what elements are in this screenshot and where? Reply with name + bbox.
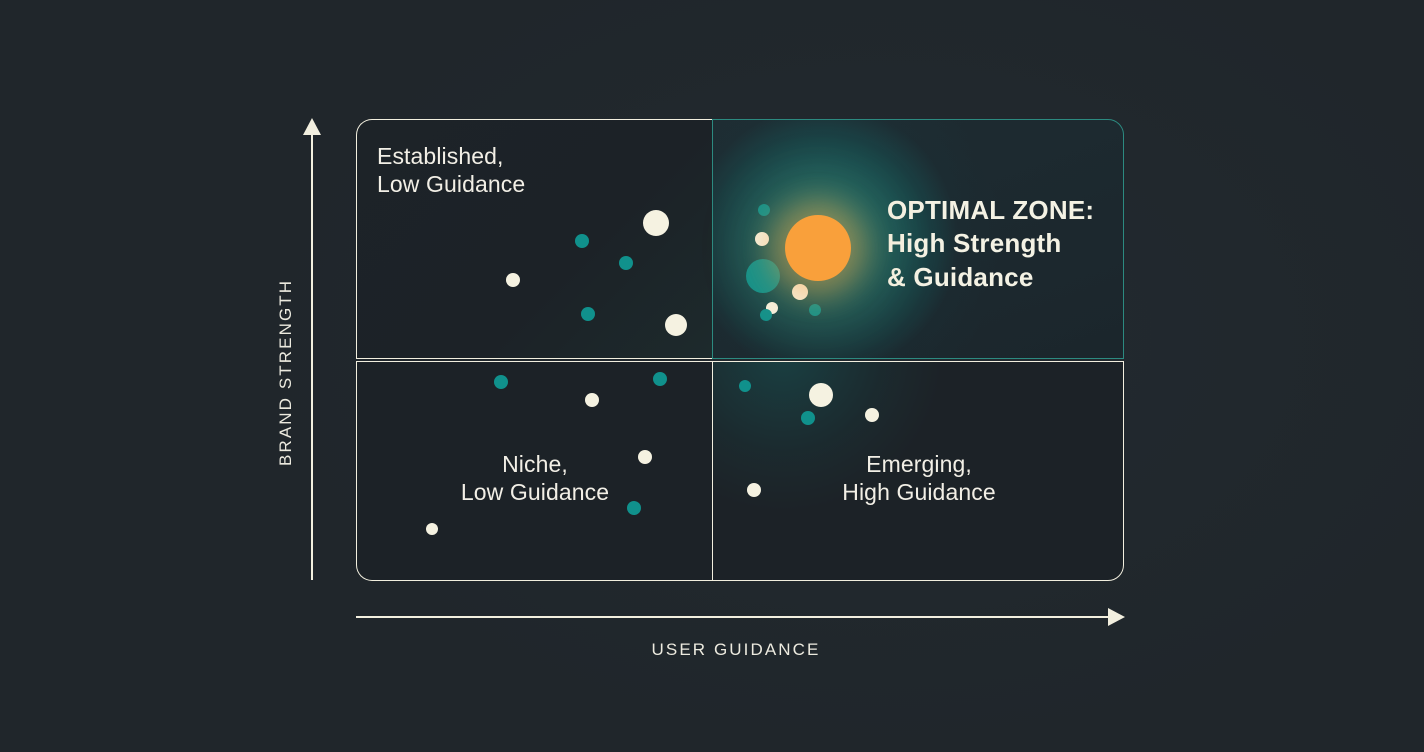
scatter-point xyxy=(809,304,821,316)
scatter-point xyxy=(760,309,772,321)
quadrant-label-established: Established, Low Guidance xyxy=(377,142,525,198)
scatter-point xyxy=(627,501,641,515)
x-axis-line xyxy=(356,616,1116,618)
quadrant-emerging-high-guidance[interactable]: Emerging, High Guidance xyxy=(712,361,1124,581)
scatter-point xyxy=(739,380,751,392)
scatter-point xyxy=(426,523,438,535)
quadrant-label-optimal-zone: OPTIMAL ZONE: High Strength & Guidance xyxy=(887,194,1094,294)
x-axis-label: USER GUIDANCE xyxy=(356,640,1116,660)
scatter-point xyxy=(643,210,669,236)
scatter-point xyxy=(755,232,769,246)
scatter-point xyxy=(865,408,879,422)
scatter-point xyxy=(585,393,599,407)
scatter-point xyxy=(792,284,808,300)
arrow-right-icon xyxy=(1108,608,1125,626)
quadrant-label-emerging: Emerging, High Guidance xyxy=(713,450,1124,506)
y-axis-line xyxy=(311,133,313,580)
scatter-point xyxy=(653,372,667,386)
quadrant-optimal-zone[interactable]: OPTIMAL ZONE: High Strength & Guidance xyxy=(712,119,1124,359)
quadrant-label-niche: Niche, Low Guidance xyxy=(357,450,712,506)
scatter-point xyxy=(809,383,833,407)
scatter-point xyxy=(506,273,520,287)
scatter-point xyxy=(638,450,652,464)
quadrant-matrix: Established, Low Guidance OPTIMAL ZONE: … xyxy=(356,119,1124,581)
scatter-point xyxy=(494,375,508,389)
y-axis-label: BRAND STRENGTH xyxy=(276,279,296,466)
scatter-point xyxy=(785,215,851,281)
quadrant-established-low-guidance[interactable]: Established, Low Guidance xyxy=(356,119,712,359)
scatter-point xyxy=(801,411,815,425)
scatter-point xyxy=(665,314,687,336)
scatter-point xyxy=(581,307,595,321)
quadrant-niche-low-guidance[interactable]: Niche, Low Guidance xyxy=(356,361,712,581)
scatter-point xyxy=(746,259,780,293)
scatter-point xyxy=(747,483,761,497)
scatter-point xyxy=(575,234,589,248)
arrow-up-icon xyxy=(303,118,321,135)
diagram-canvas: BRAND STRENGTH USER GUIDANCE Established… xyxy=(0,0,1424,752)
scatter-point xyxy=(758,204,770,216)
scatter-point xyxy=(619,256,633,270)
